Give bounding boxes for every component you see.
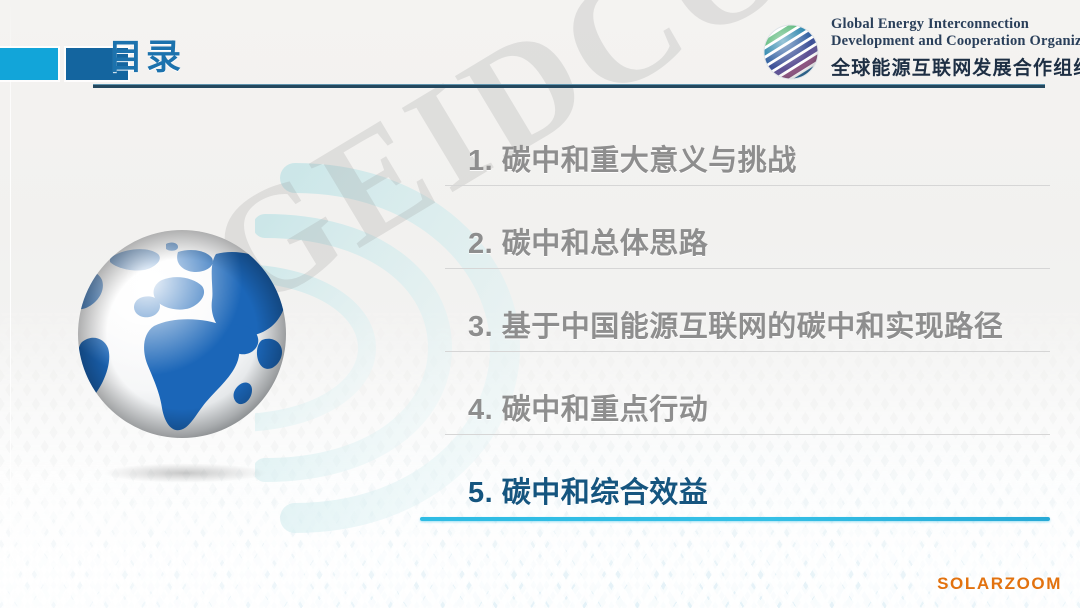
agenda-list: 1. 碳中和重大意义与挑战 2. 碳中和总体思路 3. 基于中国能源互联网的碳中… xyxy=(420,118,1050,533)
agenda-item-label: 1. 碳中和重大意义与挑战 xyxy=(468,137,797,179)
logo-english-line-2: Development and Cooperation Organization xyxy=(831,33,1080,50)
agenda-item-divider xyxy=(445,268,1050,269)
agenda-item-label: 4. 碳中和重点行动 xyxy=(468,386,708,428)
agenda-item-2[interactable]: 2. 碳中和总体思路 xyxy=(420,201,1050,284)
solarzoom-watermark: SOLARZOOM xyxy=(937,574,1062,594)
world-globe-3d-illustration xyxy=(66,222,298,454)
logo-english-line-1: Global Energy Interconnection xyxy=(831,16,1080,33)
agenda-item-1[interactable]: 1. 碳中和重大意义与挑战 xyxy=(420,118,1050,201)
agenda-item-3[interactable]: 3. 基于中国能源互联网的碳中和实现路径 xyxy=(420,284,1050,367)
agenda-item-label: 5. 碳中和综合效益 xyxy=(468,469,708,511)
agenda-item-divider xyxy=(445,185,1050,186)
page-title: 目录 xyxy=(108,29,184,80)
agenda-item-active-underline xyxy=(420,517,1050,521)
agenda-item-4[interactable]: 4. 碳中和重点行动 xyxy=(420,367,1050,450)
agenda-item-5[interactable]: 5. 碳中和综合效益 xyxy=(420,450,1050,533)
left-edge-line xyxy=(10,0,11,608)
logo-chinese-name: 全球能源互联网发展合作组织 xyxy=(831,53,1080,80)
presentation-slide: GEIDCO 目录 xyxy=(0,0,1080,608)
globe-illustration xyxy=(58,222,308,502)
agenda-item-label: 2. 碳中和总体思路 xyxy=(468,220,708,262)
geidco-globe-logo-icon xyxy=(757,18,825,86)
agenda-item-divider xyxy=(445,434,1050,435)
globe-drop-shadow xyxy=(76,460,294,486)
agenda-item-divider xyxy=(445,351,1050,352)
geidco-logo: Global Energy Interconnection Developmen… xyxy=(757,14,1075,90)
cyan-accent-block xyxy=(0,48,58,80)
geidco-logo-text: Global Energy Interconnection Developmen… xyxy=(831,16,1080,80)
agenda-item-label: 3. 基于中国能源互联网的碳中和实现路径 xyxy=(468,303,1003,345)
